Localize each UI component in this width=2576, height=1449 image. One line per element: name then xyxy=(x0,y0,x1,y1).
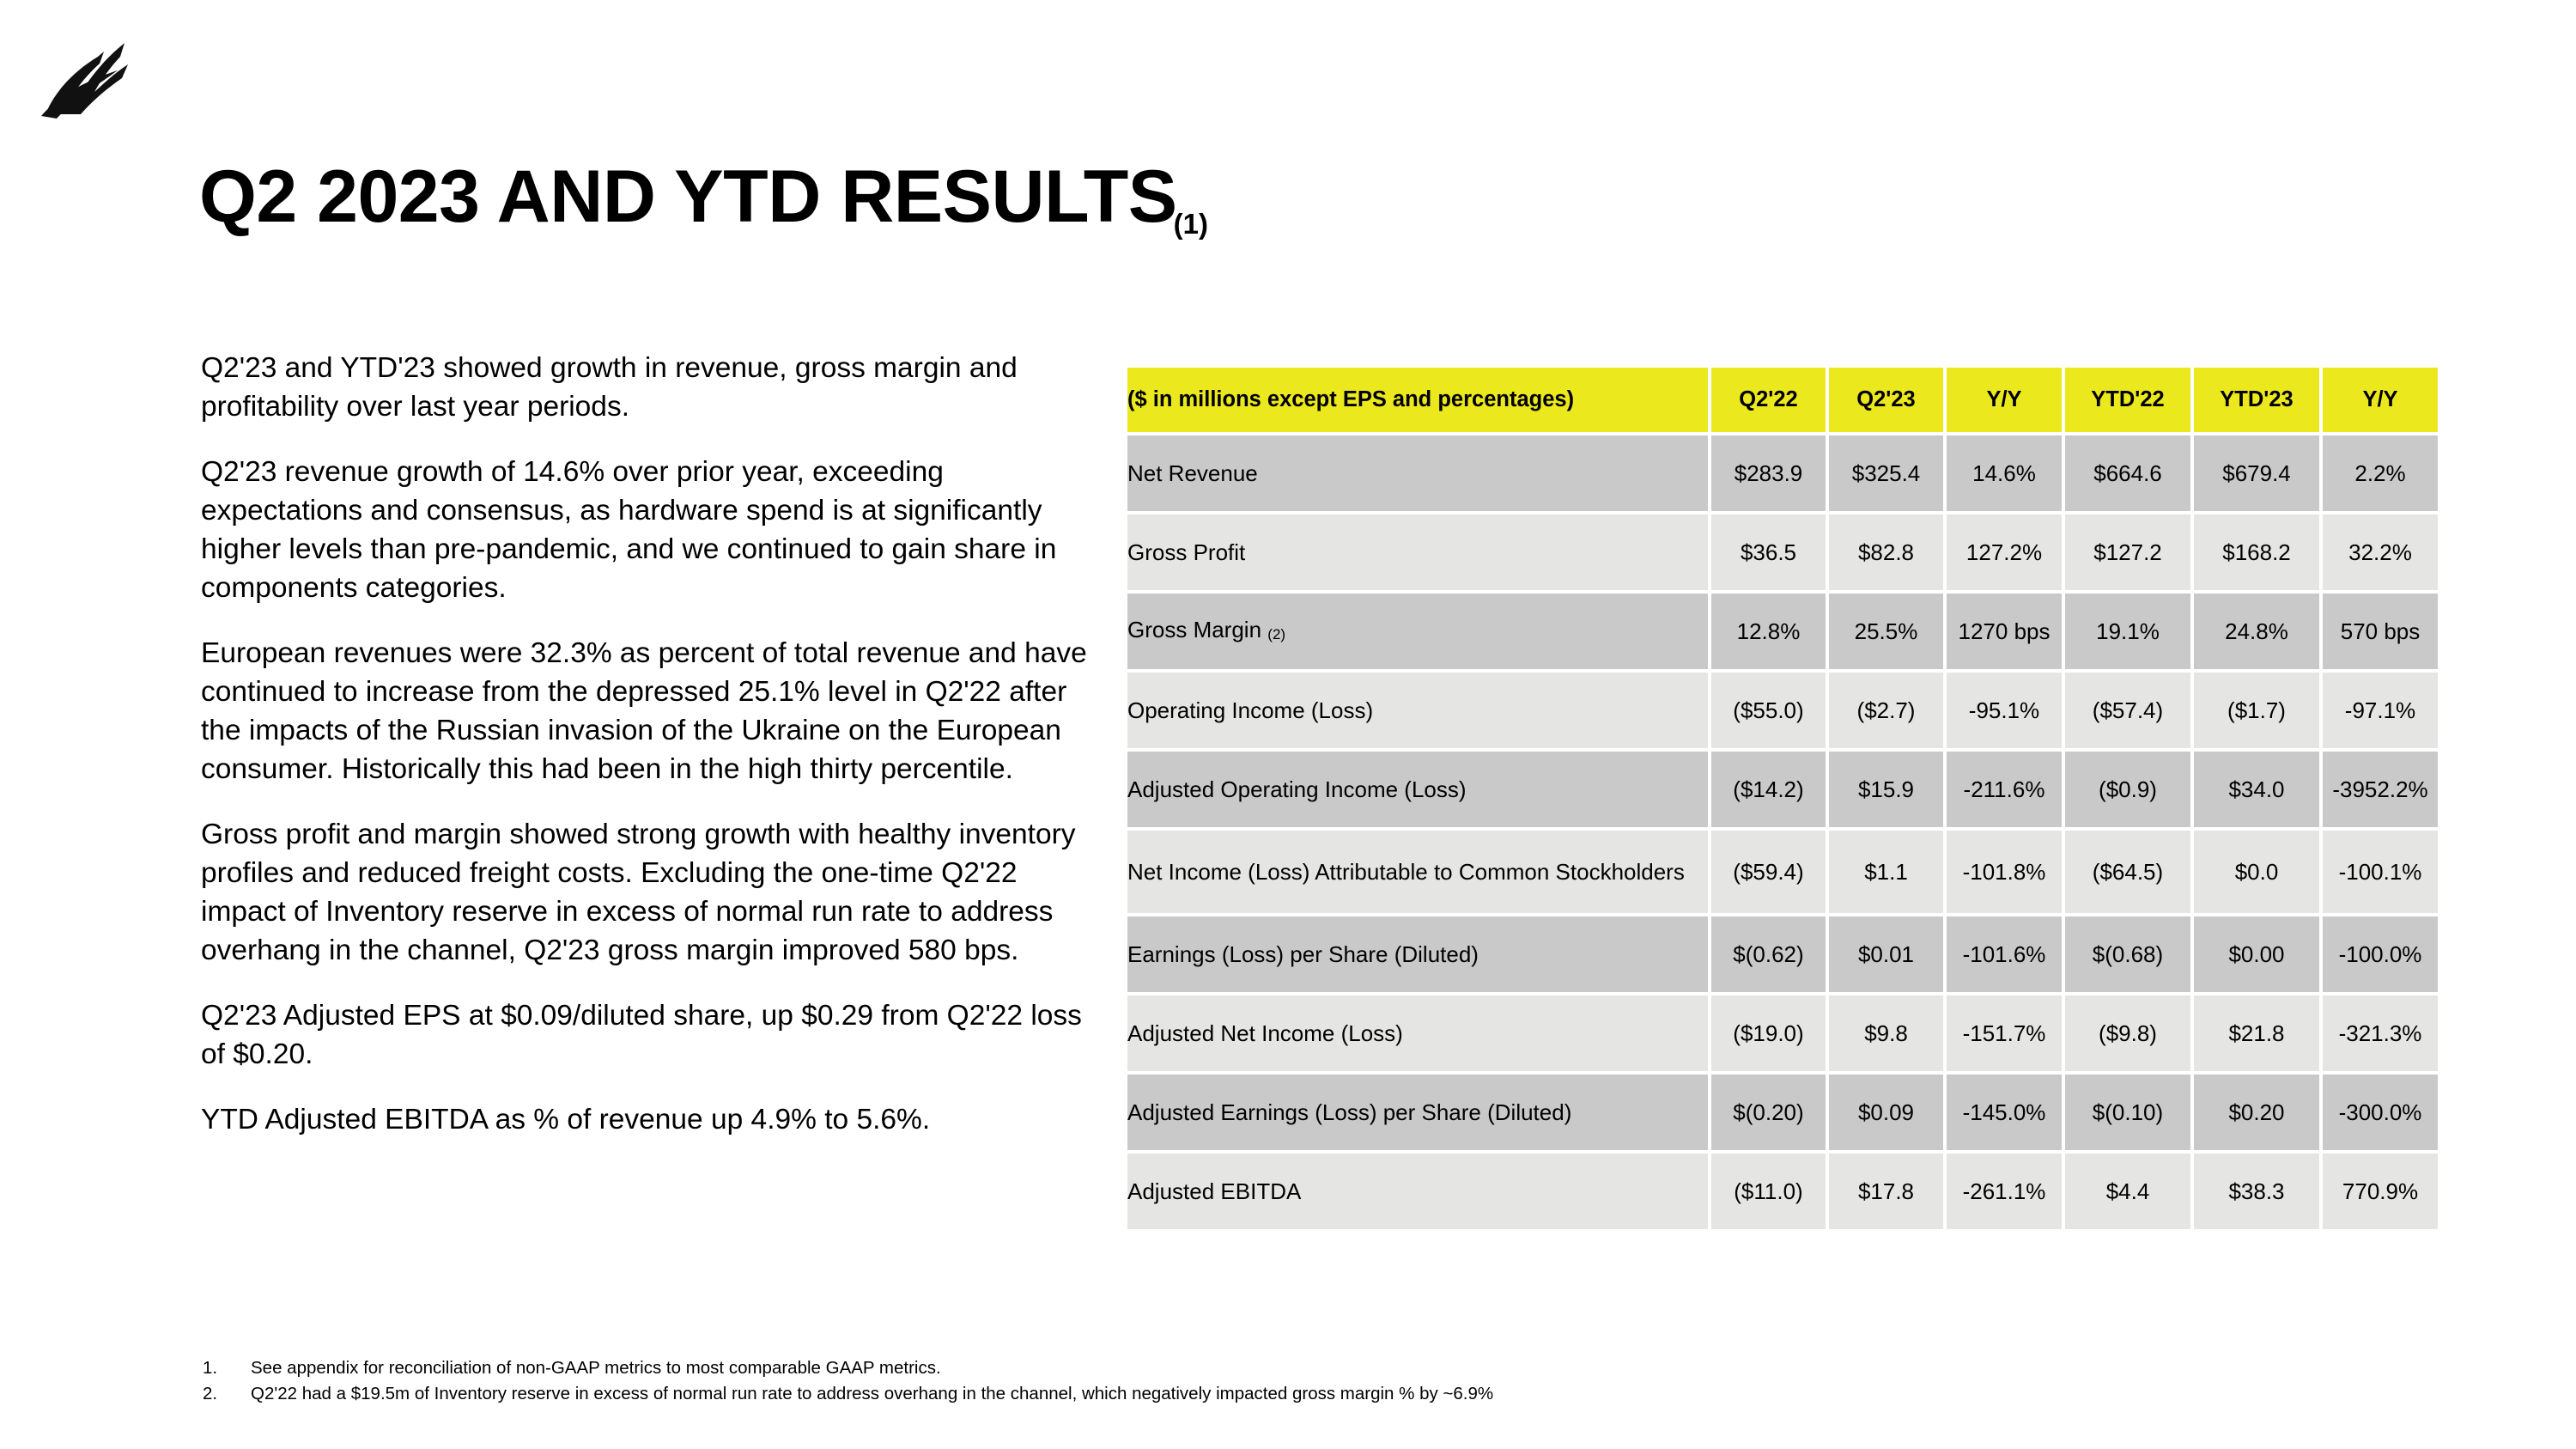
footnote-number: 2. xyxy=(203,1381,251,1407)
row-label-text: Net Revenue xyxy=(1127,460,1258,486)
narrative-paragraph: Q2'23 revenue growth of 14.6% over prior… xyxy=(201,453,1094,607)
row-label: Gross Profit xyxy=(1127,514,1708,590)
row-value: -95.1% xyxy=(1947,673,2062,748)
narrative-paragraph: Q2'23 and YTD'23 showed growth in revenu… xyxy=(201,349,1094,426)
row-value: $36.5 xyxy=(1711,514,1826,590)
row-value: $664.6 xyxy=(2065,435,2190,511)
row-value: -261.1% xyxy=(1947,1154,2062,1229)
row-label: Gross Margin (2) xyxy=(1127,594,1708,669)
row-value: -100.0% xyxy=(2323,916,2438,992)
row-label-text: Net Income (Loss) Attributable to Common… xyxy=(1127,859,1685,885)
row-value: ($55.0) xyxy=(1711,673,1826,748)
row-value: $1.1 xyxy=(1829,831,1943,913)
row-value: 12.8% xyxy=(1711,594,1826,669)
row-value: 25.5% xyxy=(1829,594,1943,669)
footnote-item: 2. Q2'22 had a $19.5m of Inventory reser… xyxy=(203,1381,2263,1407)
row-value: 770.9% xyxy=(2323,1154,2438,1229)
row-value: 570 bps xyxy=(2323,594,2438,669)
narrative-paragraph: YTD Adjusted EBITDA as % of revenue up 4… xyxy=(201,1100,1094,1139)
table-row: Adjusted Operating Income (Loss) ($14.2)… xyxy=(1127,752,2438,827)
row-label: Net Income (Loss) Attributable to Common… xyxy=(1127,831,1708,913)
row-value: ($2.7) xyxy=(1829,673,1943,748)
row-value: $283.9 xyxy=(1711,435,1826,511)
row-value: -300.0% xyxy=(2323,1075,2438,1150)
row-value: 32.2% xyxy=(2323,514,2438,590)
narrative-paragraph: Gross profit and margin showed strong gr… xyxy=(201,815,1094,970)
page-title: Q2 2023 AND YTD RESULTS(1) xyxy=(199,160,1212,234)
row-value: $82.8 xyxy=(1829,514,1943,590)
narrative-paragraph: European revenues were 32.3% as percent … xyxy=(201,634,1094,788)
table-header-cell: Y/Y xyxy=(1947,368,2062,432)
row-value: $0.20 xyxy=(2194,1075,2319,1150)
row-value: $17.8 xyxy=(1829,1154,1943,1229)
row-value: $(0.62) xyxy=(1711,916,1826,992)
row-value: $15.9 xyxy=(1829,752,1943,827)
row-value: $21.8 xyxy=(2194,995,2319,1071)
row-value: 24.8% xyxy=(2194,594,2319,669)
row-value: -321.3% xyxy=(2323,995,2438,1071)
row-label: Adjusted Earnings (Loss) per Share (Dilu… xyxy=(1127,1075,1708,1150)
row-label-text: Earnings (Loss) per Share (Diluted) xyxy=(1127,941,1479,967)
row-value: -101.6% xyxy=(1947,916,2062,992)
footnotes: 1. See appendix for reconciliation of no… xyxy=(203,1355,2263,1407)
row-label: Net Revenue xyxy=(1127,435,1708,511)
row-value: ($0.9) xyxy=(2065,752,2190,827)
table-header-cell: ($ in millions except EPS and percentage… xyxy=(1127,368,1708,432)
row-label: Adjusted Operating Income (Loss) xyxy=(1127,752,1708,827)
table-row: Gross Margin (2) 12.8% 25.5% 1270 bps 19… xyxy=(1127,594,2438,669)
row-value: -3952.2% xyxy=(2323,752,2438,827)
row-value: $0.09 xyxy=(1829,1075,1943,1150)
row-label-text: Gross Margin xyxy=(1127,617,1261,642)
table-row: Net Income (Loss) Attributable to Common… xyxy=(1127,831,2438,913)
corsair-sails-logo xyxy=(36,33,132,123)
row-value: $679.4 xyxy=(2194,435,2319,511)
row-value: ($57.4) xyxy=(2065,673,2190,748)
table-row: Adjusted Net Income (Loss) ($19.0) $9.8 … xyxy=(1127,995,2438,1071)
page-title-text: Q2 2023 AND YTD RESULTS xyxy=(199,155,1177,238)
row-value: $325.4 xyxy=(1829,435,1943,511)
row-value: -101.8% xyxy=(1947,831,2062,913)
row-value: 127.2% xyxy=(1947,514,2062,590)
row-value: 19.1% xyxy=(2065,594,2190,669)
table-row: Net Revenue $283.9 $325.4 14.6% $664.6 $… xyxy=(1127,435,2438,511)
table-row: Adjusted Earnings (Loss) per Share (Dilu… xyxy=(1127,1075,2438,1150)
row-label-text: Operating Income (Loss) xyxy=(1127,697,1373,723)
row-value: -151.7% xyxy=(1947,995,2062,1071)
page-title-footnote-ref: (1) xyxy=(1174,208,1208,240)
row-value: -97.1% xyxy=(2323,673,2438,748)
row-label: Operating Income (Loss) xyxy=(1127,673,1708,748)
row-value: $(0.10) xyxy=(2065,1075,2190,1150)
row-label: Earnings (Loss) per Share (Diluted) xyxy=(1127,916,1708,992)
row-value: $0.0 xyxy=(2194,831,2319,913)
row-label-text: Adjusted Earnings (Loss) per Share (Dilu… xyxy=(1127,1099,1571,1125)
financial-metrics-table: ($ in millions except EPS and percentage… xyxy=(1127,368,2398,1229)
row-value: ($19.0) xyxy=(1711,995,1826,1071)
row-value: $9.8 xyxy=(1829,995,1943,1071)
row-label: Adjusted Net Income (Loss) xyxy=(1127,995,1708,1071)
row-label-text: Adjusted EBITDA xyxy=(1127,1178,1301,1204)
table-header-cell: Q2'22 xyxy=(1711,368,1826,432)
footnote-text: Q2'22 had a $19.5m of Inventory reserve … xyxy=(251,1381,2263,1407)
row-value: -145.0% xyxy=(1947,1075,2062,1150)
row-value: ($14.2) xyxy=(1711,752,1826,827)
table-row: Operating Income (Loss) ($55.0) ($2.7) -… xyxy=(1127,673,2438,748)
row-label-footnote-ref: (2) xyxy=(1267,626,1285,642)
table-row: Gross Profit $36.5 $82.8 127.2% $127.2 $… xyxy=(1127,514,2438,590)
row-value: ($59.4) xyxy=(1711,831,1826,913)
row-value: 1270 bps xyxy=(1947,594,2062,669)
row-value: $(0.20) xyxy=(1711,1075,1826,1150)
row-value: ($11.0) xyxy=(1711,1154,1826,1229)
row-label-text: Adjusted Net Income (Loss) xyxy=(1127,1020,1403,1046)
narrative-paragraph: Q2'23 Adjusted EPS at $0.09/diluted shar… xyxy=(201,996,1094,1074)
table-header-row: ($ in millions except EPS and percentage… xyxy=(1127,368,2438,432)
row-value: $38.3 xyxy=(2194,1154,2319,1229)
row-value: $0.01 xyxy=(1829,916,1943,992)
row-value: $127.2 xyxy=(2065,514,2190,590)
row-value: ($9.8) xyxy=(2065,995,2190,1071)
table-row: Earnings (Loss) per Share (Diluted) $(0.… xyxy=(1127,916,2438,992)
row-value: $34.0 xyxy=(2194,752,2319,827)
row-value: ($1.7) xyxy=(2194,673,2319,748)
table-header-cell: YTD'23 xyxy=(2194,368,2319,432)
row-label-text: Adjusted Operating Income (Loss) xyxy=(1127,776,1467,802)
row-label-text: Gross Profit xyxy=(1127,539,1245,565)
footnote-item: 1. See appendix for reconciliation of no… xyxy=(203,1355,2263,1381)
footnote-text: See appendix for reconciliation of non-G… xyxy=(251,1355,2263,1381)
row-label: Adjusted EBITDA xyxy=(1127,1154,1708,1229)
row-value: ($64.5) xyxy=(2065,831,2190,913)
row-value: -211.6% xyxy=(1947,752,2062,827)
table-header-cell: YTD'22 xyxy=(2065,368,2190,432)
row-value: $168.2 xyxy=(2194,514,2319,590)
row-value: $0.00 xyxy=(2194,916,2319,992)
narrative-column: Q2'23 and YTD'23 showed growth in revenu… xyxy=(201,349,1094,1139)
row-value: $(0.68) xyxy=(2065,916,2190,992)
row-value: 14.6% xyxy=(1947,435,2062,511)
row-value: $4.4 xyxy=(2065,1154,2190,1229)
row-value: 2.2% xyxy=(2323,435,2438,511)
table-row: Adjusted EBITDA ($11.0) $17.8 -261.1% $4… xyxy=(1127,1154,2438,1229)
footnote-number: 1. xyxy=(203,1355,251,1381)
table-header-cell: Q2'23 xyxy=(1829,368,1943,432)
row-value: -100.1% xyxy=(2323,831,2438,913)
table-header-cell: Y/Y xyxy=(2323,368,2438,432)
